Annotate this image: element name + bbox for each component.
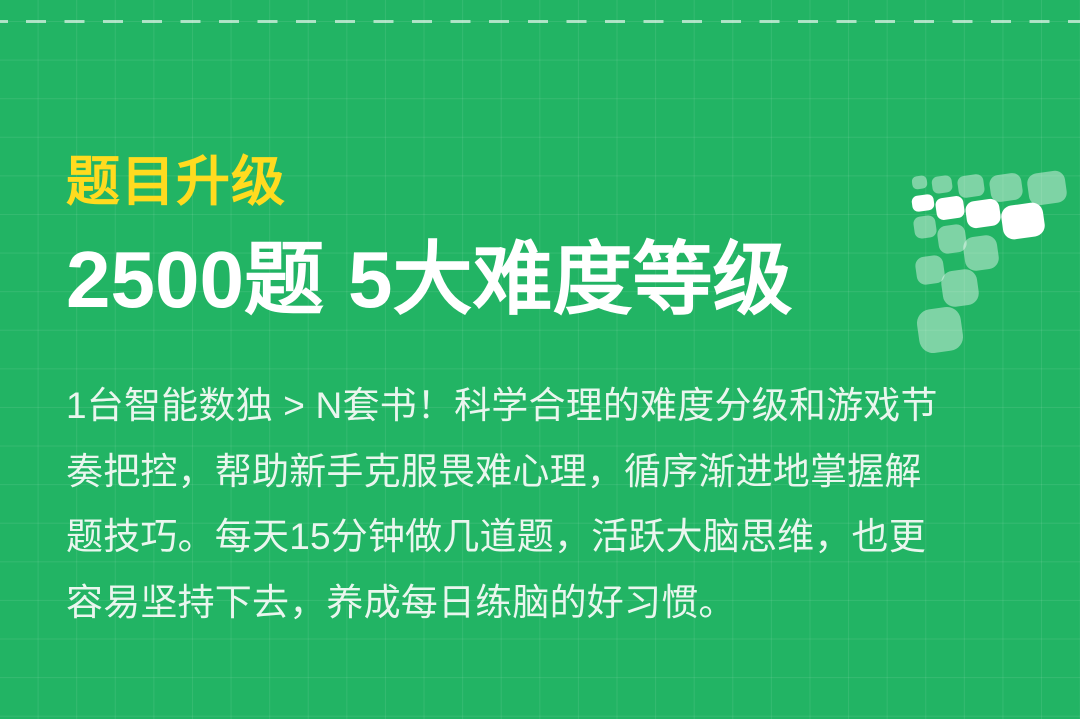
body-copy-line: 题技巧。每天15分钟做几道题，活跃大脑思维，也更 (66, 504, 1026, 569)
body-copy: 1台智能数独 > N套书！科学合理的难度分级和游戏节 奏把控，帮助新手克服畏难心… (66, 373, 1026, 635)
body-copy-line: 奏把控，帮助新手克服畏难心理，循序渐进地掌握解 (66, 439, 1026, 504)
dashed-divider (0, 20, 1080, 23)
headline-part-one: 2500题 (66, 235, 324, 324)
eyebrow-heading: 题目升级 (66, 152, 1026, 212)
promo-banner: 题目升级 2500题5大难度等级 1台智能数独 > N套书！科学合理的难度分级和… (0, 0, 1080, 719)
headline-part-two: 5大难度等级 (348, 235, 793, 324)
body-copy-line: 容易坚持下去，养成每日练脑的好习惯。 (66, 570, 1026, 635)
banner-content: 题目升级 2500题5大难度等级 1台智能数独 > N套书！科学合理的难度分级和… (66, 152, 1026, 635)
page-title: 2500题5大难度等级 (66, 234, 1026, 327)
body-copy-line: 1台智能数独 > N套书！科学合理的难度分级和游戏节 (66, 373, 1026, 438)
